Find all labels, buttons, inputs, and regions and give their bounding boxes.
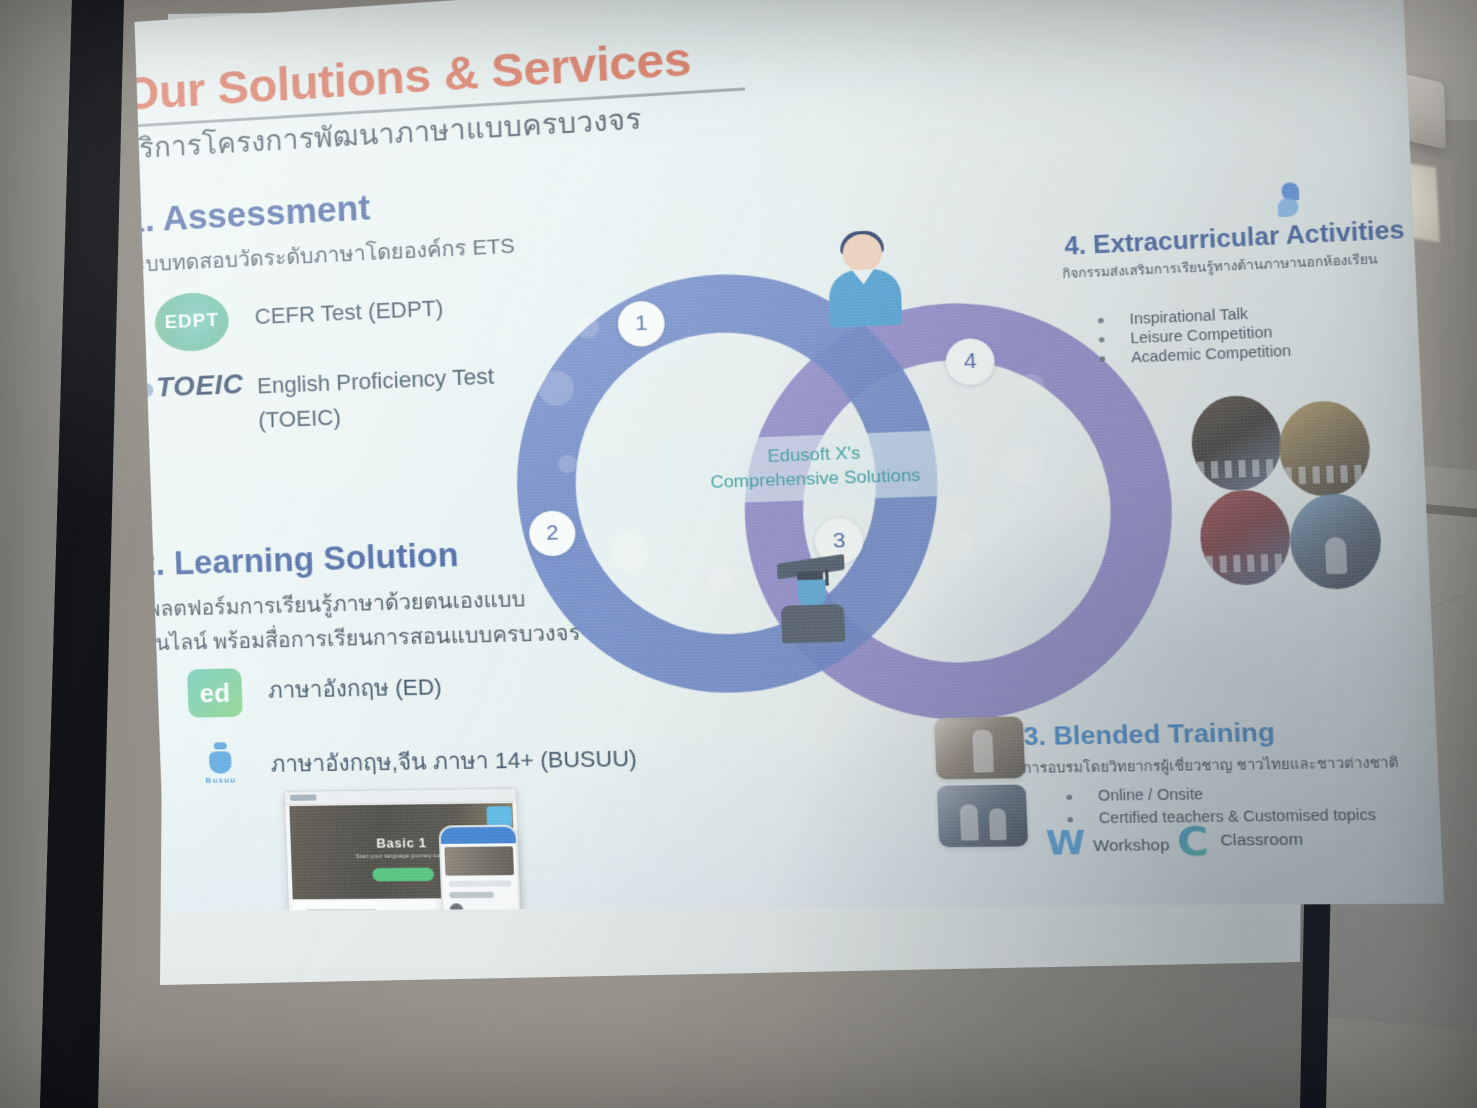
product-screenshot-mockup: Basic 1 Start your language journey toda… [284, 787, 548, 911]
graduate-body [781, 604, 845, 643]
classroom-icon: C [1176, 821, 1210, 862]
projected-slide: Our Solutions & Services บริการโครงการพั… [134, 0, 1444, 911]
training-photo-cluster [934, 716, 1033, 849]
activity-photo [1288, 492, 1383, 590]
learning-item-ed: ภาษาอังกฤษ (ED) [267, 669, 442, 708]
blended-bullet-1: Online / Onsite [1098, 785, 1204, 804]
phone-app-header [441, 827, 516, 844]
busuu-logo-text: Busuu [205, 775, 236, 785]
section-heading-learning: 2. Learning Solution [137, 535, 459, 583]
workshop-label: Workshop [1093, 836, 1170, 855]
phone-list-row [449, 880, 512, 887]
toeic-logo-text: TOEIC [156, 368, 244, 403]
bullet-dot [1098, 318, 1104, 324]
assessment-item-toeic-line2: (TOEIC) [258, 404, 341, 434]
blended-bullet-2: Certified teachers & Customised topics [1099, 806, 1377, 827]
activity-photo [1190, 394, 1283, 492]
assessment-item-cefr: CEFR Test (EDPT) [254, 295, 444, 330]
training-photo [937, 785, 1028, 848]
activity-photo-cluster [1190, 390, 1401, 591]
classroom-photo: Draw-in-Tube Our Solutions & Services บร… [0, 0, 1477, 1108]
learning-item-busuu: ภาษาอังกฤษ,จีน ภาษา 14+ (BUSUU) [270, 740, 637, 782]
extracurricular-bullet-1: Inspirational Talk [1129, 305, 1248, 327]
course-cta-button[interactable] [372, 868, 434, 882]
toeic-logo: TOEIC [139, 368, 244, 404]
phone-list-row [449, 892, 494, 898]
student-illustration [827, 232, 903, 327]
section-heading-assessment: 1. Assessment [134, 188, 370, 241]
ed-logo: ed [187, 668, 243, 717]
phone-avatar [450, 903, 464, 911]
busuu-logo: Busuu [196, 744, 246, 791]
phone-media-thumb [444, 846, 514, 875]
busuu-mark-icon [209, 751, 232, 774]
edusoft-logo-icon [1277, 182, 1309, 220]
graduate-illustration [777, 549, 857, 641]
infinity-loop-diagram: 1 2 3 4 Edusoft X's Comprehensive Soluti… [509, 247, 1088, 684]
workshop-icon: W [1045, 825, 1086, 860]
edpt-logo: EDPT [154, 291, 230, 352]
section-heading-blended: 3. Blended Training [1023, 718, 1275, 752]
training-photo [934, 716, 1025, 779]
classroom-label: Classroom [1220, 831, 1303, 850]
phone-mockup [438, 825, 522, 912]
activity-photo [1277, 399, 1372, 497]
assessment-item-toeic: English Proficiency Test [257, 363, 495, 399]
center-brand-label: Edusoft X's Comprehensive Solutions [663, 430, 969, 505]
bullet-dot [1066, 795, 1072, 800]
student-head [842, 233, 883, 273]
activity-photo [1198, 489, 1292, 586]
bullet-dot [1099, 337, 1105, 343]
